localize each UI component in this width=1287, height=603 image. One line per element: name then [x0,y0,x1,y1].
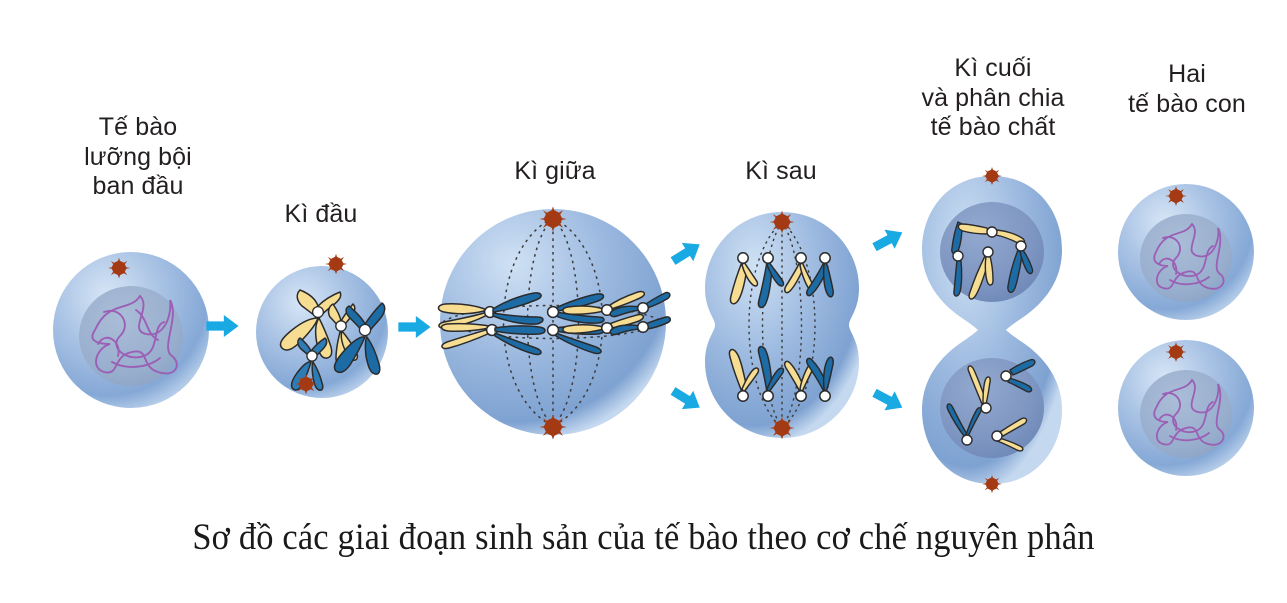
label-parent-cell: Tế bào lưỡng bội ban đầu [38,113,238,202]
nucleus [940,358,1044,458]
cell-anaphase [705,211,859,440]
centromere-dot [987,227,997,237]
centromere-dot [953,251,963,261]
centromere-dot [820,253,830,263]
label-metaphase: Kì giữa [473,157,637,187]
mitosis-diagram: Tế bào lưỡng bội ban đầu Kì đầu Kì giữa … [0,0,1287,603]
centromere-dot [983,247,993,257]
cell-daughter-upper [1118,184,1254,320]
centromere-dot [548,307,559,318]
centromere-dot [336,321,346,331]
centromere-dot [359,324,370,335]
cell-daughter-lower [1118,340,1254,476]
arrow-prophase-to-metaphase [398,316,430,338]
cell-telophase [922,167,1062,493]
figure-caption: Sơ đồ các giai đoạn sinh sản của tế bào … [45,516,1242,559]
arrow-metaphase-to-anaphase-lower [667,382,705,417]
arrow-anaphase-to-telophase-upper [869,223,907,257]
centromere-dot [638,322,649,333]
cell-prophase [256,254,388,398]
label-telophase: Kì cuối và phân chia tế bào chất [882,54,1104,143]
centromere-dot [763,253,773,263]
centromere-dot [962,435,972,445]
centromere-dot [738,253,748,263]
arrow-anaphase-to-telophase-lower [869,383,907,417]
centromere-dot [796,253,806,263]
arrow-metaphase-to-anaphase-upper [667,235,705,270]
centromere-dot [981,403,991,413]
centromere-dot [992,431,1002,441]
label-anaphase: Kì sau [700,157,862,187]
centromere-dot [307,351,317,361]
arrow-parent-to-prophase [206,315,238,337]
label-prophase: Kì đầu [240,200,402,230]
centromere-dot [796,391,806,401]
label-daughter-cells: Hai tế bào con [1096,60,1278,119]
centromere-dot [313,307,324,318]
centromere-dot [763,391,773,401]
centromere-dot [738,391,748,401]
centromere-dot [638,303,649,314]
centromere-dot [820,391,830,401]
centromere-dot [1001,371,1011,381]
cell-parent-interphase [53,252,209,408]
centromere-dot [1016,241,1026,251]
centromere-dot [548,325,559,336]
cell-metaphase [438,206,670,439]
